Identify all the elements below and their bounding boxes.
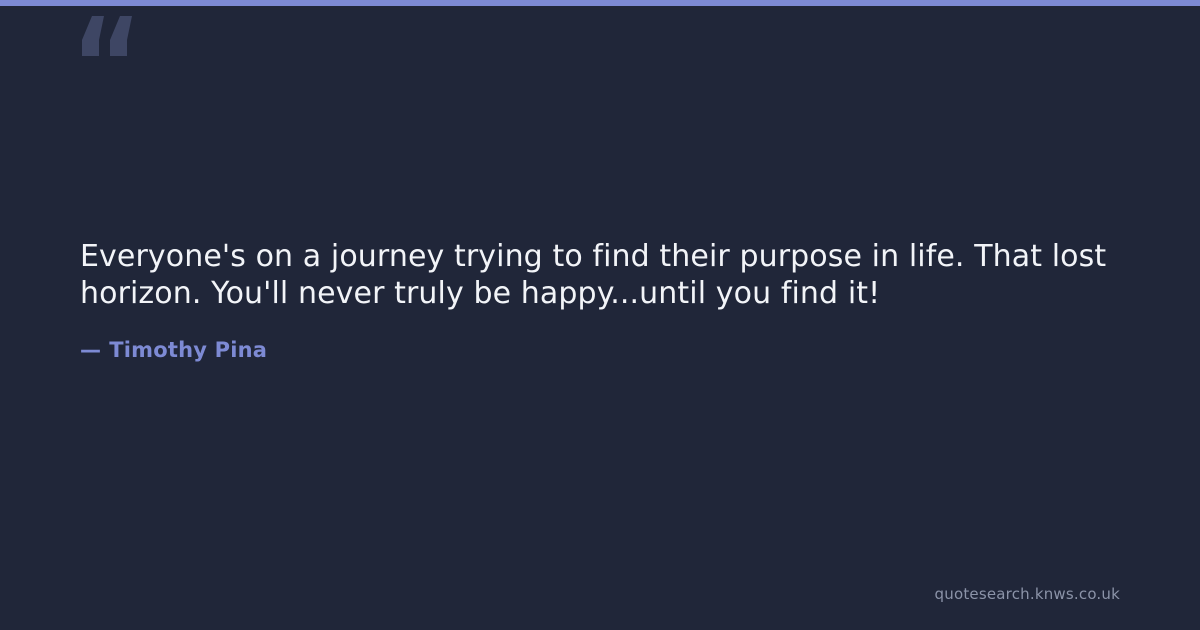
top-accent-bar bbox=[0, 0, 1200, 6]
attribution-dash: — bbox=[80, 338, 101, 362]
quotation-mark-icon bbox=[80, 14, 140, 94]
quote-card: Everyone's on a journey trying to find t… bbox=[0, 0, 1200, 630]
quote-content: Everyone's on a journey trying to find t… bbox=[80, 238, 1120, 364]
quote-attribution: —Timothy Pina bbox=[80, 312, 1120, 364]
attribution-author: Timothy Pina bbox=[109, 338, 267, 362]
source-url: quotesearch.knws.co.uk bbox=[935, 585, 1120, 604]
quote-text: Everyone's on a journey trying to find t… bbox=[80, 238, 1120, 312]
